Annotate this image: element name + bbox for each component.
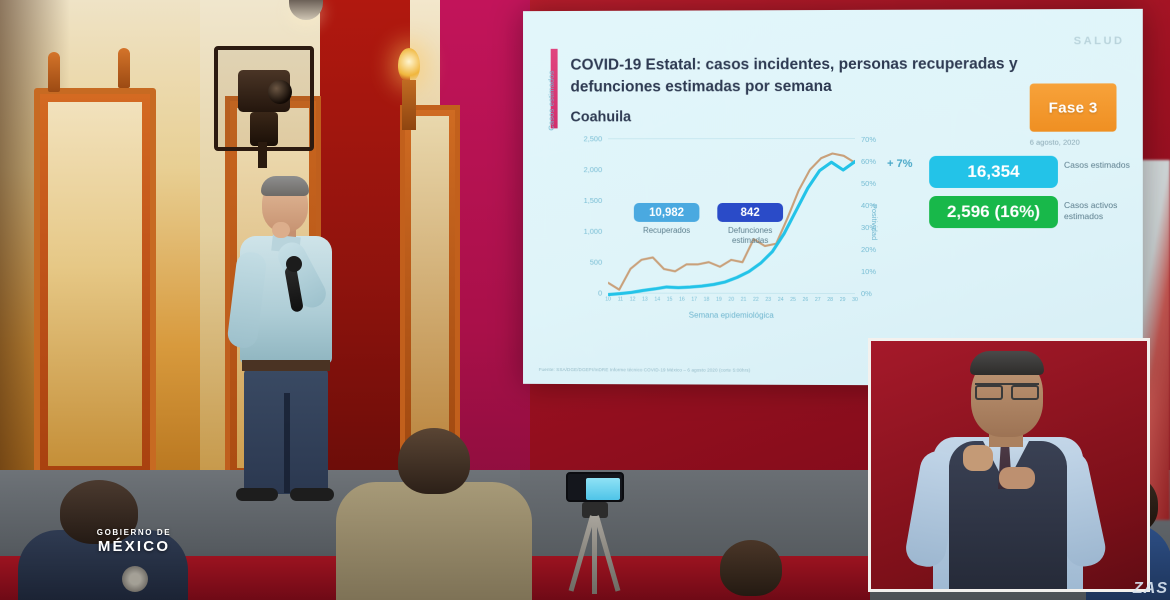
wall-lamp-base (402, 80, 416, 130)
y2-tick: 10% (861, 267, 876, 276)
smartphone-recording (566, 472, 624, 502)
speaker-presenter (228, 178, 348, 520)
x-tick: 23 (765, 297, 771, 303)
phase-badge: Fase 3 (1030, 83, 1117, 131)
badge-deaths-caption: Defunciones estimadas (710, 226, 790, 247)
slide-title: COVID-19 Estatal: casos incidentes, pers… (570, 53, 1039, 98)
camera-lens-icon (268, 80, 292, 104)
stat-estimated-cases-caption: Casos estimados (1064, 160, 1139, 171)
y-tick: 1,500 (561, 196, 603, 205)
y-axis-label-right: Positividad (870, 177, 879, 267)
salud-logo: SALUD (1074, 35, 1125, 47)
x-tick: 18 (704, 297, 710, 303)
x-tick: 25 (790, 297, 796, 303)
x-tick: 21 (741, 297, 747, 303)
x-axis-label: Semana epidemiológica (608, 310, 855, 320)
slide-subtitle: Coahuila (570, 109, 631, 125)
presentation-slide: SALUD COVID-19 Estatal: casos incidentes… (523, 9, 1143, 386)
phase-badge-date: 6 agosto, 2020 (1030, 138, 1131, 147)
badge-deaths: 842 (717, 203, 783, 222)
positivity-delta: + 7% (887, 158, 912, 170)
wall-lamp-glow (398, 48, 420, 82)
phone-tripod (556, 472, 632, 592)
x-axis-ticks: 1011121314151617181920212223242526272829… (608, 297, 855, 309)
y-tick: 500 (561, 258, 603, 267)
stat-active-cases: 2,596 (16%) (929, 196, 1058, 228)
watermark-line-1: GOBIERNO DE (66, 528, 202, 537)
watermark-line-2: MÉXICO (66, 538, 202, 555)
y2-tick: 60% (861, 157, 876, 166)
gobierno-watermark: GOBIERNO DE MÉXICO (66, 528, 202, 555)
y-axis-ticks-left: 0 500 1,000 1,500 2,000 2,500 (561, 135, 603, 296)
x-tick: 16 (679, 297, 685, 303)
finial-left-2 (118, 48, 130, 88)
broadcast-frame: SALUD COVID-19 Estatal: casos incidentes… (0, 0, 1170, 600)
x-tick: 28 (827, 297, 833, 303)
phase-badge-label: Fase 3 (1049, 99, 1098, 116)
badge-recovered-caption: Recuperados (627, 226, 706, 236)
x-tick: 14 (654, 297, 660, 303)
y-tick: 2,500 (561, 134, 603, 143)
x-tick: 27 (815, 297, 821, 303)
door-frame-right (400, 105, 460, 480)
sign-language-interpreter-panel (868, 338, 1150, 592)
x-tick: 13 (642, 297, 648, 303)
corner-overlay-text: ZAS (1133, 580, 1168, 598)
stat-active-cases-caption: Casos activos estimados (1064, 200, 1139, 222)
audience-member (690, 540, 820, 600)
badge-recovered: 10,982 (634, 203, 700, 222)
x-tick: 24 (778, 297, 784, 303)
x-tick: 10 (605, 297, 611, 303)
x-tick: 19 (716, 297, 722, 303)
camera-mount (250, 112, 278, 146)
door-frame-left (34, 88, 156, 480)
x-tick: 12 (630, 297, 636, 303)
x-tick: 26 (803, 297, 809, 303)
microphone-icon (286, 256, 302, 272)
y2-tick: 70% (861, 135, 876, 144)
x-tick: 11 (618, 297, 623, 303)
y-tick: 1,000 (561, 227, 603, 236)
x-tick: 30 (852, 297, 858, 303)
national-seal-icon (122, 566, 148, 592)
x-tick: 15 (667, 297, 673, 303)
x-tick: 22 (753, 297, 759, 303)
x-tick: 29 (840, 297, 846, 303)
y-tick: 0 (561, 289, 603, 298)
camera-stem (258, 142, 267, 168)
stat-estimated-cases: 16,354 (929, 156, 1058, 188)
y-tick: 2,000 (561, 165, 603, 174)
x-tick: 17 (691, 297, 697, 303)
x-tick: 20 (728, 297, 734, 303)
glasses-icon (975, 383, 1039, 394)
y-axis-label-left: Casos estimados (547, 46, 556, 155)
audience-member (336, 428, 532, 600)
y2-tick: 0% (861, 289, 872, 298)
finial-left (48, 52, 60, 92)
chart-container: Casos estimados 0 500 1,000 1,500 2,000 … (551, 135, 879, 310)
